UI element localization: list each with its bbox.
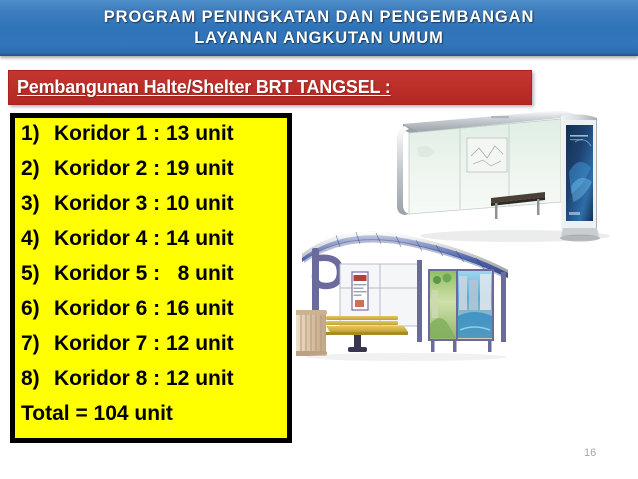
- subtitle-red-bar: Pembangunan Halte/Shelter BRT TANGSEL :: [8, 70, 532, 105]
- page-number: 16: [584, 447, 596, 459]
- list-item: 6) Koridor 6 : 16 unit: [21, 297, 287, 332]
- list-item-label: Koridor 4 : 14 unit: [54, 227, 287, 251]
- list-item-label: Koridor 6 : 16 unit: [54, 297, 287, 321]
- list-item-index: 3): [21, 192, 54, 216]
- list-item: 7) Koridor 7 : 12 unit: [21, 332, 287, 367]
- list-item-label: Koridor 1 : 13 unit: [54, 122, 287, 146]
- list-item-index: 1): [21, 122, 54, 146]
- list-item-label: Koridor 2 : 19 unit: [54, 157, 287, 181]
- list-item: 2) Koridor 2 : 19 unit: [21, 157, 287, 192]
- corridor-total-label: Total = 104 unit: [21, 402, 173, 426]
- header-title-line1: PROGRAM PENINGKATAN DAN PENGEMBANGAN: [104, 7, 535, 28]
- corridor-list-box: 1) Koridor 1 : 13 unit 2) Koridor 2 : 19…: [10, 113, 292, 443]
- list-item: 8) Koridor 8 : 12 unit: [21, 367, 287, 402]
- list-item-index: 6): [21, 297, 54, 321]
- subtitle-text: Pembangunan Halte/Shelter BRT TANGSEL :: [17, 77, 391, 98]
- list-item-index: 7): [21, 332, 54, 356]
- list-item-label: Koridor 7 : 12 unit: [54, 332, 287, 356]
- list-item-index: 2): [21, 157, 54, 181]
- header-title-line2: LAYANAN ANGKUTAN UMUM: [194, 28, 444, 49]
- canopy-bus-shelter-image: [296, 220, 528, 365]
- list-item: 1) Koridor 1 : 13 unit: [21, 122, 287, 157]
- list-item-index: 4): [21, 227, 54, 251]
- list-item: 4) Koridor 4 : 14 unit: [21, 227, 287, 262]
- corridor-total-row: Total = 104 unit: [21, 402, 287, 437]
- list-item-index: 5): [21, 262, 54, 286]
- list-item: 3) Koridor 3 : 10 unit: [21, 192, 287, 227]
- list-item: 5) Koridor 5 : 8 unit: [21, 262, 287, 297]
- list-item-label: Koridor 5 : 8 unit: [54, 262, 287, 286]
- list-item-label: Koridor 8 : 12 unit: [54, 367, 287, 391]
- list-item-index: 8): [21, 367, 54, 391]
- slide-header-banner: PROGRAM PENINGKATAN DAN PENGEMBANGAN LAY…: [0, 0, 638, 56]
- list-item-label: Koridor 3 : 10 unit: [54, 192, 287, 216]
